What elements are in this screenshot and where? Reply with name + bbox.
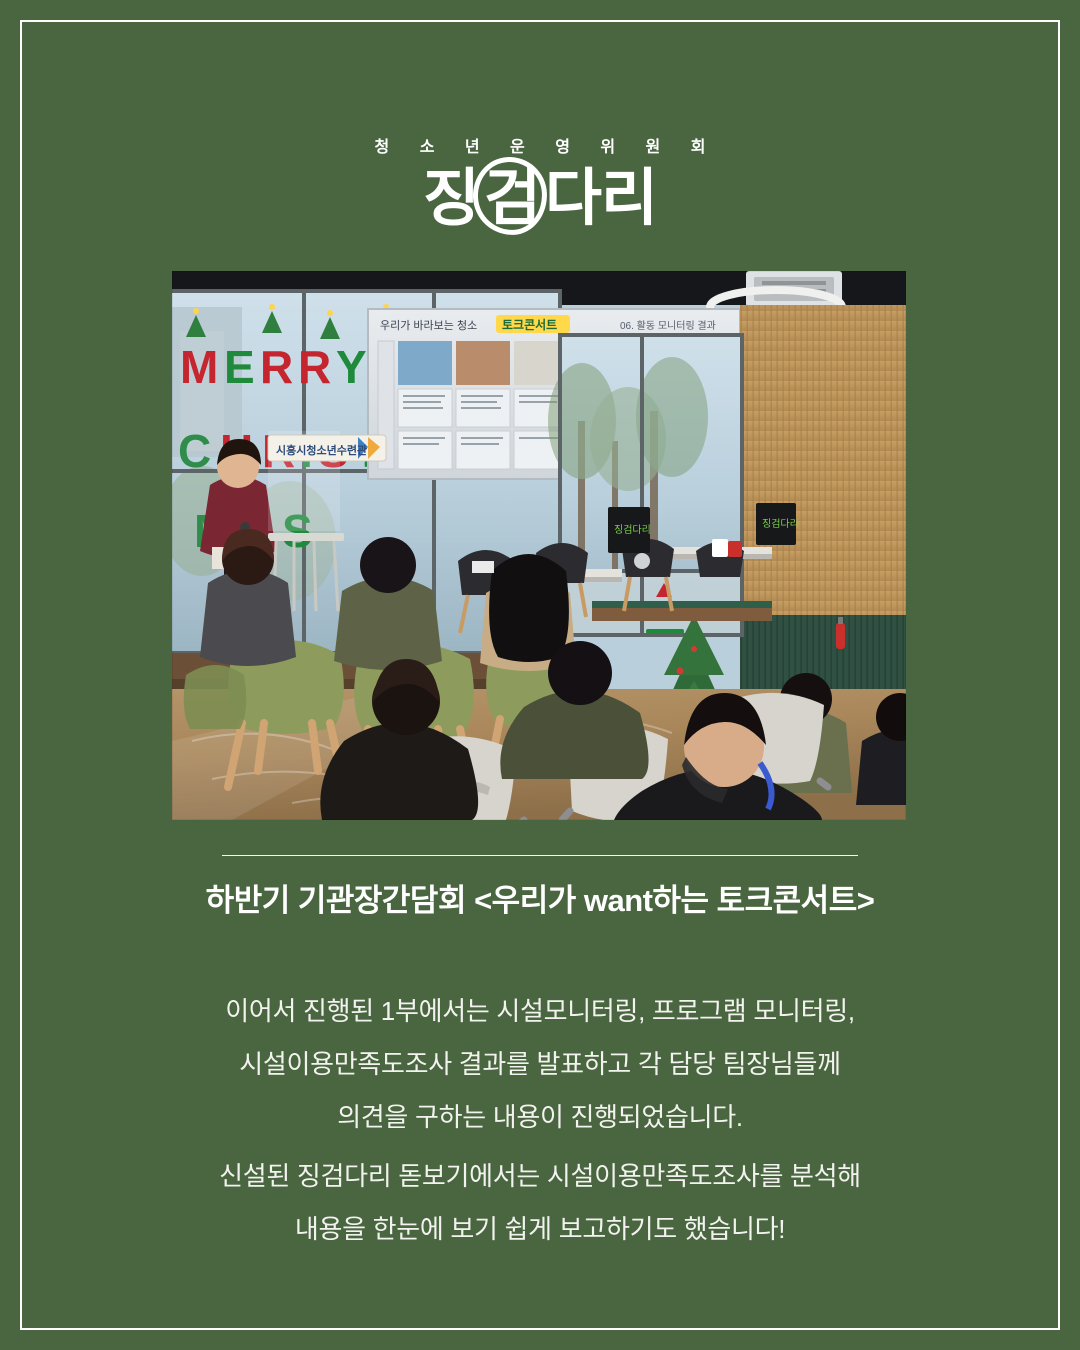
svg-text:징검다리: 징검다리 [614,524,651,536]
slide-title-left: 우리가 바라보는 청소 [380,319,477,332]
podium-sign-text: 시흥시청소년수련관 [276,443,367,457]
logo-wordmark: 징검다리 [423,166,657,231]
body-line-1: 이어서 진행된 1부에서는 시설모니터링, 프로그램 모니터링, [90,985,990,1038]
body-line-2: 시설이용만족도조사 결과를 발표하고 각 담당 팀장님들께 [90,1038,990,1091]
body-line-4: 신설된 징검다리 돋보기에서는 시설이용만족도조사를 분석해 [90,1150,990,1203]
svg-text:M: M [180,341,218,393]
svg-text:E: E [224,341,255,393]
body-line-3: 의견을 구하는 내용이 진행되었습니다. [90,1091,990,1144]
podium-sign: 시흥시청소년수련관 [268,435,386,461]
card-news-slide: 청 소 년 운 영 위 원 회 징검다리 [0,0,1080,1350]
logo-char-after: 다리 [545,166,657,231]
svg-text:Y: Y [336,341,367,393]
slide-title-right: 06. 활동 모니터링 결과 [620,319,716,332]
svg-text:R: R [298,341,331,393]
event-photo: M E R R Y C H R I S T M A S 우리가 바라보는 청소 [172,271,906,820]
svg-text:R: R [260,341,293,393]
brand-logo: 청 소 년 운 영 위 원 회 징검다리 [0,140,1080,231]
logo-circled-char-group: 검 [479,166,545,231]
body-line-5: 내용을 한눈에 보기 쉽게 보고하기도 했습니다! [90,1203,990,1256]
event-photo-illustration: M E R R Y C H R I S T M A S 우리가 바라보는 청소 [172,271,906,820]
horizontal-rule [222,855,858,856]
page-title: 하반기 기관장간담회 <우리가 want하는 토크콘서트> [0,880,1080,922]
logo-char-before: 징 [423,166,479,231]
slide-title-highlight: 토크콘서트 [502,317,557,332]
svg-text:징검다리: 징검다리 [762,518,799,530]
svg-text:C: C [178,425,211,477]
logo-kicker-text: 청 소 년 운 영 위 원 회 [0,140,1080,156]
body-paragraph: 이어서 진행된 1부에서는 시설모니터링, 프로그램 모니터링, 시설이용만족도… [90,985,990,1256]
